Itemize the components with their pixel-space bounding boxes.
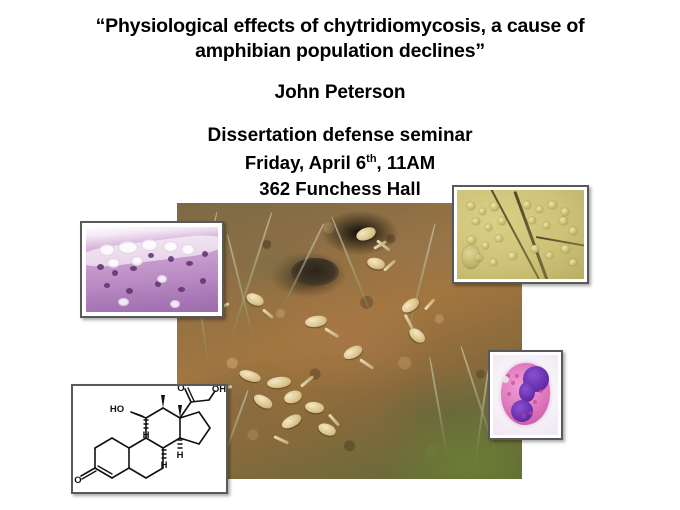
- slide-title-block: “Physiological effects of chytridiomycos…: [0, 0, 680, 201]
- sporangium: [181, 244, 195, 255]
- cell-nucleus: [130, 266, 137, 271]
- zoosporangium: [467, 236, 476, 244]
- cell-nucleus: [97, 264, 104, 270]
- granule: [511, 381, 515, 385]
- cell-nucleus: [148, 253, 154, 258]
- zoosporangium: [490, 202, 499, 211]
- hydroxyl-right-label: OH: [212, 386, 226, 395]
- cell-nucleus: [186, 261, 193, 266]
- zoosporangium: [495, 235, 503, 242]
- zoosporangium: [508, 252, 517, 260]
- cell-nucleus: [104, 283, 110, 288]
- chytrid-image: [457, 190, 584, 279]
- zoosporangium: [472, 218, 480, 225]
- zoosporangium: [543, 222, 550, 229]
- zoosporangium: [528, 217, 536, 224]
- zoosporangium: [559, 217, 568, 225]
- zoosporangium: [569, 227, 577, 235]
- zoosporangium: [546, 252, 553, 259]
- ketone-bottom-label: O: [74, 475, 81, 486]
- platelet: [502, 376, 509, 383]
- hydroxyl-left-label: HO: [110, 404, 124, 415]
- event-datetime: Friday, April 6th, 11AM: [0, 148, 680, 175]
- histology-caption: Purple H&E stained histological section …: [86, 312, 87, 313]
- date-suffix: , 11AM: [377, 152, 436, 173]
- cell-nucleus: [178, 287, 185, 292]
- granule: [522, 414, 526, 418]
- sporangium: [163, 241, 178, 252]
- vacuole: [118, 298, 129, 306]
- corticosterone-structure-diagram: HO OH O O H H H Skeletal chemical struct…: [71, 384, 228, 494]
- zoosporangium: [531, 245, 539, 253]
- cell-nucleus: [200, 278, 206, 284]
- cell-nucleus: [126, 288, 133, 294]
- stereo-h-label: H: [177, 450, 184, 461]
- sporangium: [107, 258, 120, 268]
- zoosporangium: [485, 224, 492, 231]
- histology-image: [86, 227, 218, 312]
- sporangium: [118, 241, 138, 254]
- event-location: 362 Funchess Hall: [0, 175, 680, 201]
- stained-white-blood-cell: Giemsa-stained amphibian leukocyte with …: [488, 350, 563, 440]
- chytrid-caption: Olive-yellow light micrograph of Batrach…: [457, 279, 458, 280]
- zoosporangium: [561, 245, 570, 253]
- stereo-h-label: H: [143, 430, 150, 441]
- zoosporangium: [548, 201, 557, 209]
- zoosporangium: [561, 208, 569, 216]
- stereo-h-label: H: [161, 460, 168, 471]
- blood-cell-caption: Giemsa-stained amphibian leukocyte with …: [493, 435, 494, 436]
- amphibian-skin-histology: Purple H&E stained histological section …: [80, 221, 224, 318]
- zoosporangium: [490, 259, 497, 266]
- sporangium: [131, 256, 143, 266]
- zoosporangium: [536, 206, 543, 213]
- cell-nucleus: [112, 270, 118, 276]
- vacuole: [157, 275, 167, 283]
- cell-nucleus: [202, 251, 208, 257]
- zoosporangium: [569, 259, 577, 266]
- page-title-line-2: amphibian population declines”: [0, 39, 680, 64]
- author-name: John Peterson: [0, 64, 680, 105]
- event-label: Dissertation defense seminar: [0, 105, 680, 148]
- vacuole: [170, 300, 180, 308]
- chemical-caption: Skeletal chemical structure of corticost…: [73, 492, 74, 493]
- steroid-skeletal-svg: HO OH O O H H H: [73, 386, 226, 492]
- granule: [539, 389, 543, 393]
- zoosporangium: [498, 217, 506, 225]
- empty-sporangium: [462, 245, 480, 269]
- date-prefix: Friday, April 6: [245, 152, 366, 173]
- cell-nucleus: [168, 256, 174, 262]
- zoosporangium: [482, 242, 489, 249]
- page-title-line-1: “Physiological effects of chytridiomycos…: [0, 0, 680, 39]
- hypha-strand: [536, 236, 584, 248]
- zoosporangium: [467, 202, 475, 210]
- date-ordinal-suffix: th: [366, 153, 376, 165]
- zoosporangium: [523, 201, 531, 209]
- zoosporangium: [479, 208, 486, 215]
- blood-cell-image: [493, 355, 558, 435]
- ketone-top-label: O: [177, 386, 184, 394]
